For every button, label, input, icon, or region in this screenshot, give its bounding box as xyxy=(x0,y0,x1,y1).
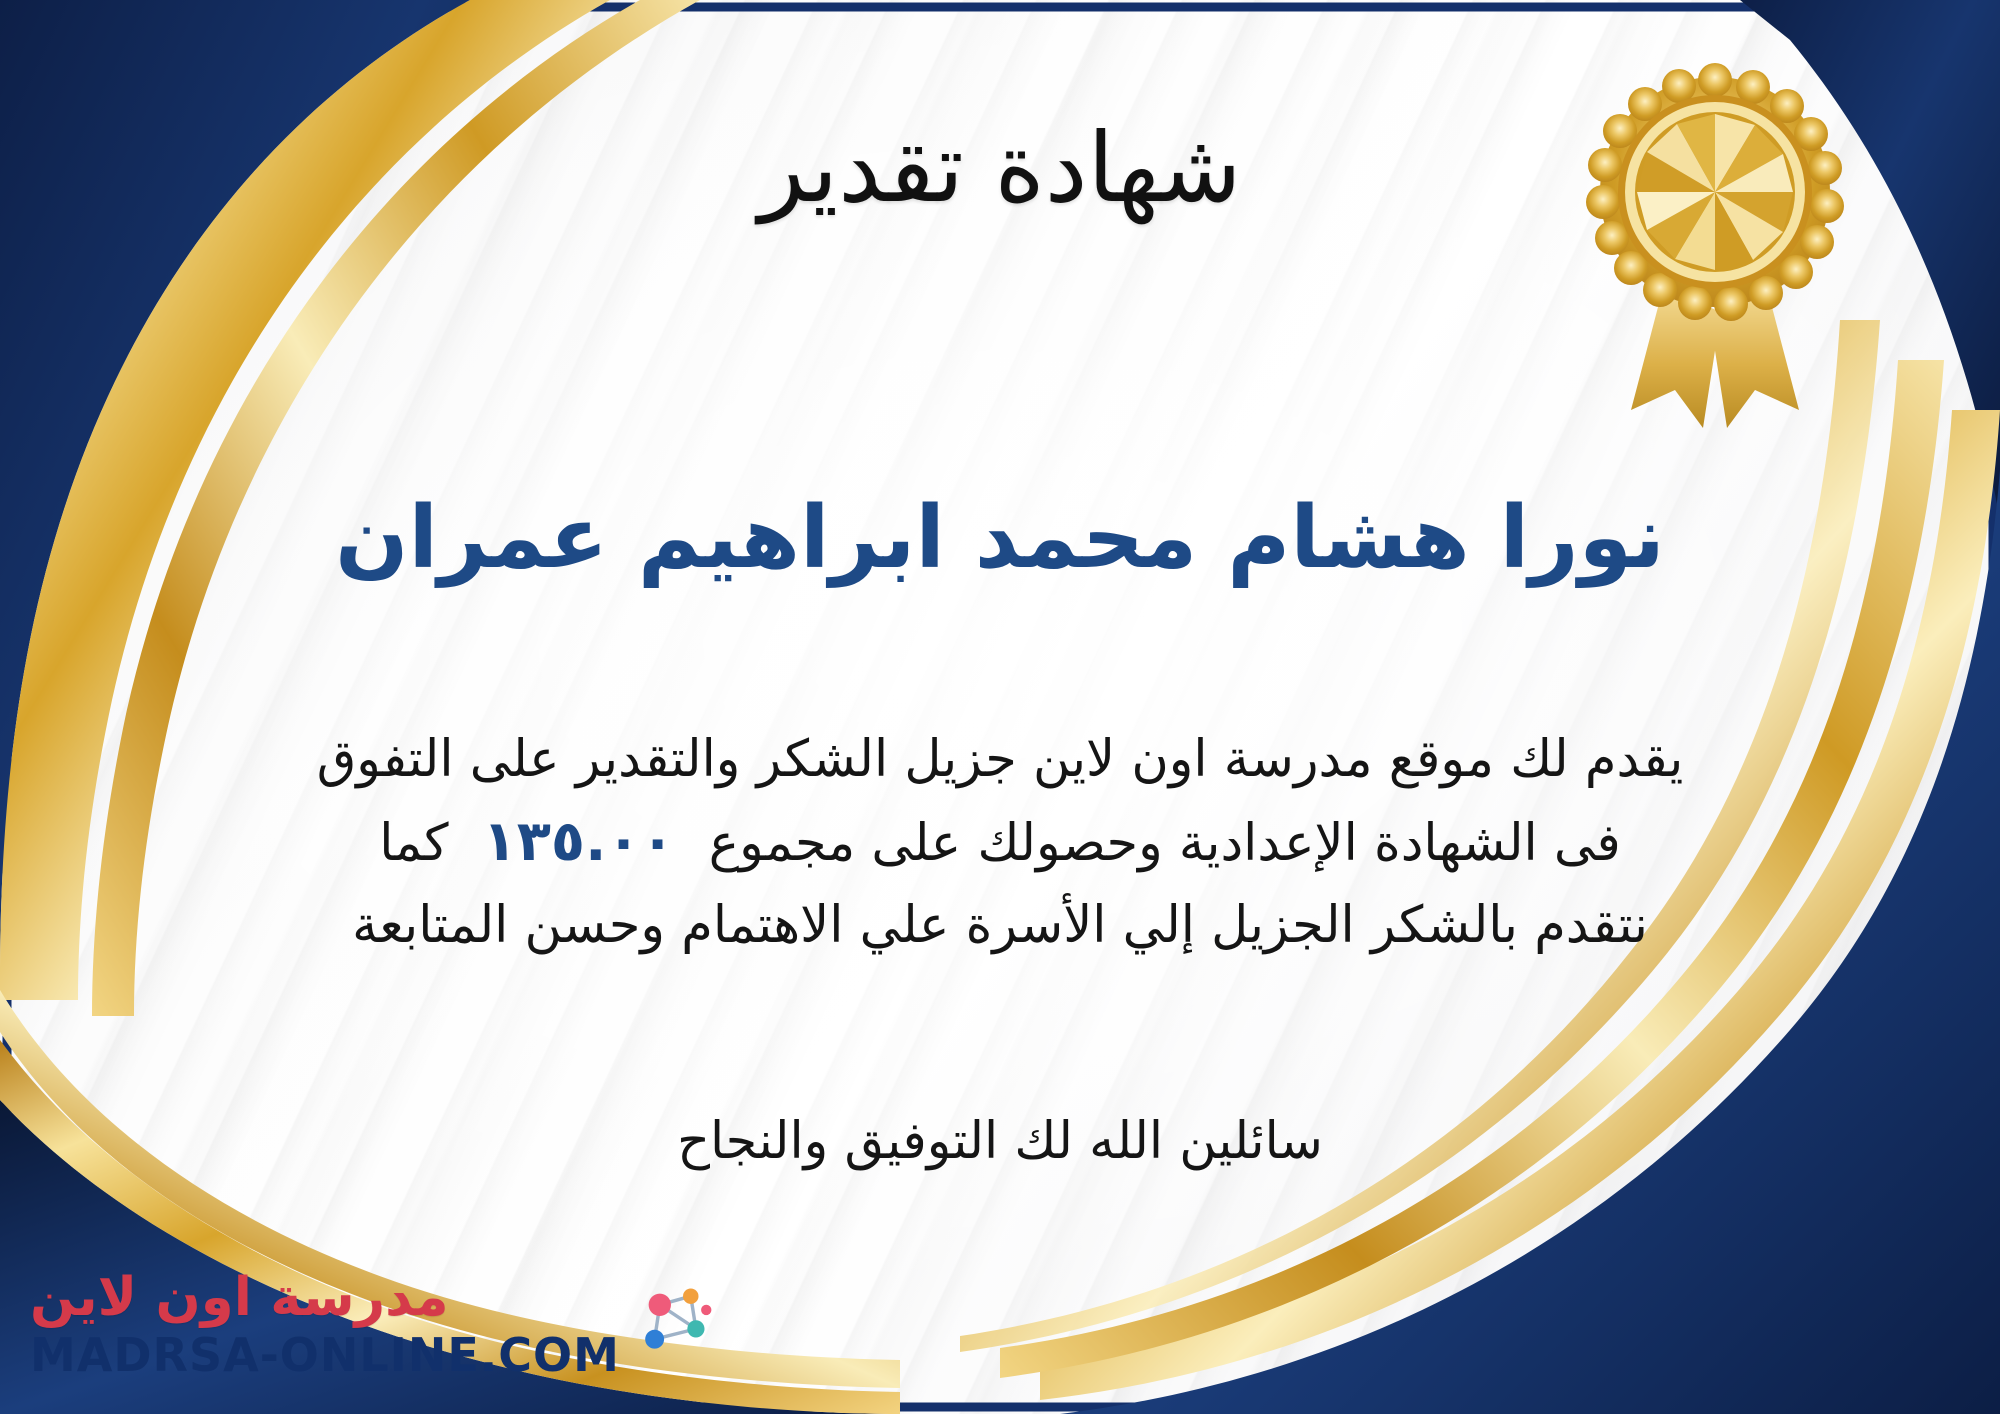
brand-arabic-name: مدرسة اون لاين xyxy=(30,1271,449,1324)
brand-website-url: MADRSA-ONLINE.COM xyxy=(30,1332,620,1378)
certificate-body: يقدم لك موقع مدرسة اون لاين جزيل الشكر و… xyxy=(60,720,1940,965)
molecule-network-icon xyxy=(634,1279,720,1365)
brand-logo[interactable]: مدرسة اون لاين MADRSA-ONLINE.COM xyxy=(30,1271,720,1378)
certificate-content: شهادة تقدير نورا هشام محمد ابراهيم عمران… xyxy=(0,0,2000,1414)
body-line-2-suffix: كما xyxy=(379,814,448,873)
body-line-2: فى الشهادة الإعدادية وحصولك على مجموع١٣٥… xyxy=(60,799,1940,886)
body-line-1: يقدم لك موقع مدرسة اون لاين جزيل الشكر و… xyxy=(60,720,1940,799)
student-name: نورا هشام محمد ابراهيم عمران xyxy=(0,488,2000,588)
brand-text-group: مدرسة اون لاين MADRSA-ONLINE.COM xyxy=(30,1271,620,1378)
closing-wish-text: سائلين الله لك التوفيق والنجاح xyxy=(0,1112,2000,1171)
grade-total-value: ١٣٥.٠٠ xyxy=(449,809,709,874)
body-line-2-prefix: فى الشهادة الإعدادية وحصولك على مجموع xyxy=(709,814,1621,873)
certificate-title: شهادة تقدير xyxy=(0,112,2000,224)
certificate-canvas: شهادة تقدير نورا هشام محمد ابراهيم عمران… xyxy=(0,0,2000,1414)
body-line-3: نتقدم بالشكر الجزيل إلي الأسرة علي الاهت… xyxy=(60,886,1940,965)
